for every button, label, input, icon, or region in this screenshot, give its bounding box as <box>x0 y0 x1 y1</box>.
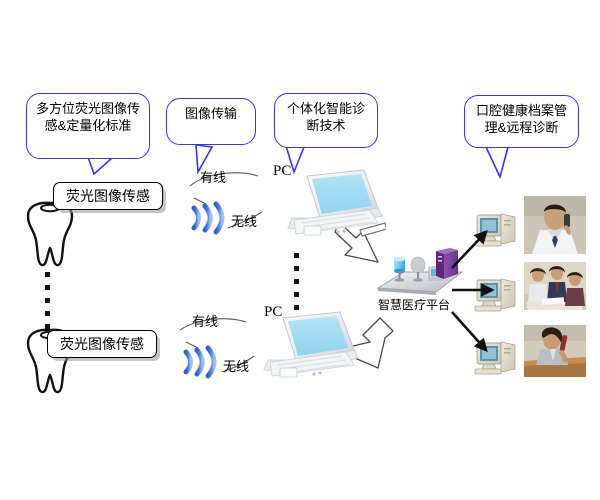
callout-personalized-diagnosis[interactable]: 个体化智能诊断技术 <box>274 93 378 148</box>
sensor-label-1: 荧光图像传感 <box>66 188 150 204</box>
link-label-wireless-bottom: 无线 <box>223 356 249 375</box>
callout-tails <box>0 0 600 500</box>
callout-text-4: 口腔健康档案管理&远程诊断 <box>476 103 567 135</box>
sensor-box-2[interactable]: 荧光图像传感 <box>47 330 157 358</box>
callout-text-3: 个体化智能诊断技术 <box>287 101 365 133</box>
callout-multiangle-fluorescence[interactable]: 多方位荧光图像传感&定量化标准 <box>26 93 150 159</box>
callout-tail-1 <box>88 157 112 174</box>
pc-label-1: PC <box>273 163 291 180</box>
callout-text-2: 图像传输 <box>185 106 237 121</box>
sensor-box-1[interactable]: 荧光图像传感 <box>53 182 163 210</box>
link-label-wired-bottom: 有线 <box>192 311 218 330</box>
diagram-canvas: 多方位荧光图像传感&定量化标准 图像传输 个体化智能诊断技术 口腔健康档案管理&… <box>0 0 600 500</box>
link-label-wireless-top: 无线 <box>231 211 257 230</box>
pc-label-2: PC <box>264 304 282 321</box>
callout-text-1: 多方位荧光图像传感&定量化标准 <box>36 101 140 133</box>
callout-image-transmission[interactable]: 图像传输 <box>166 98 256 145</box>
sensor-label-2: 荧光图像传感 <box>60 336 144 352</box>
callout-health-records-telediagnosis[interactable]: 口腔健康档案管理&远程诊断 <box>464 95 579 148</box>
callout-tail-4 <box>486 147 508 177</box>
link-label-wired-top: 有线 <box>200 167 226 186</box>
platform-label: 智慧医疗平台 <box>378 296 450 313</box>
